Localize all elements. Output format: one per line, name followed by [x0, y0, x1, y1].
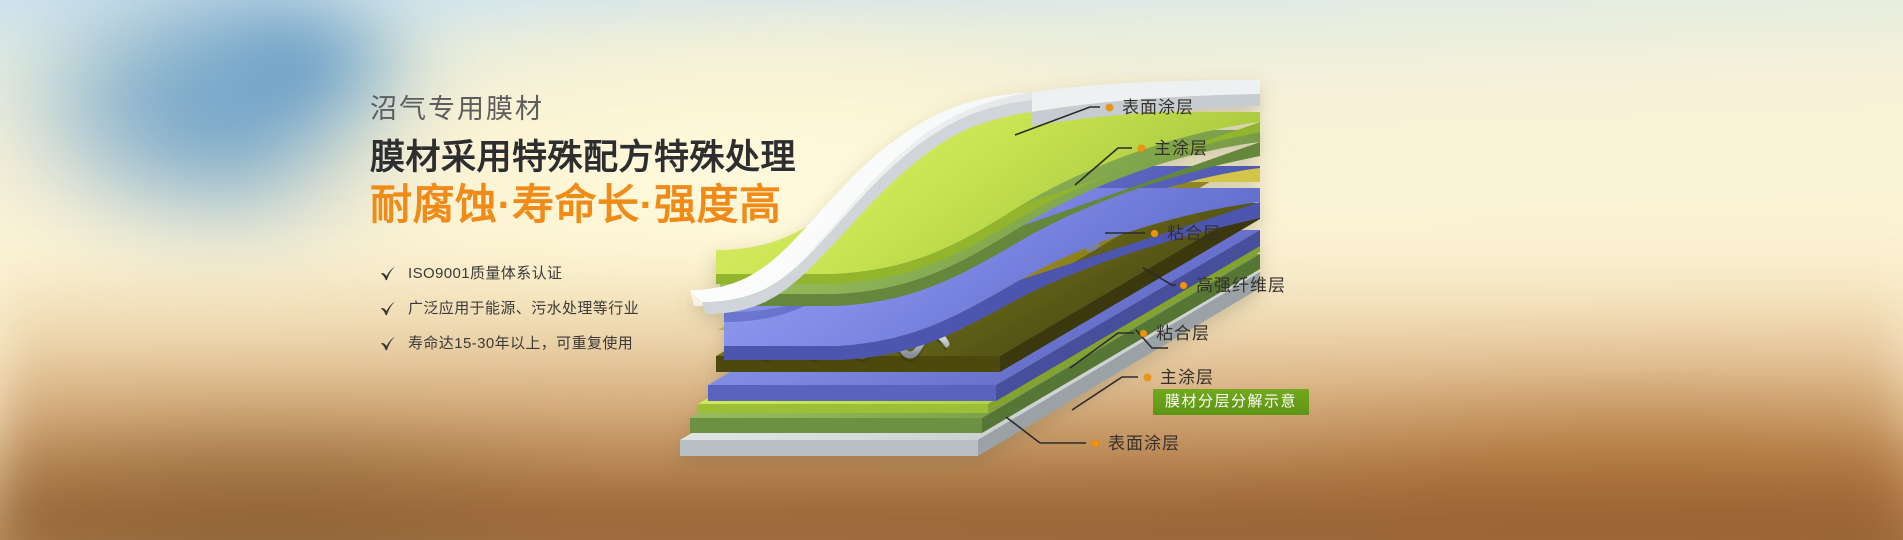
callout-label: 粘合层 [1167, 225, 1221, 242]
list-item-label: 广泛应用于能源、污水处理等行业 [408, 301, 639, 316]
callout-high-strength-fiber: 高强纤维层 [1180, 277, 1286, 294]
membrane-layer-diagram [660, 0, 1903, 540]
callout-label: 主涂层 [1154, 140, 1208, 157]
leader-dot-icon [1140, 330, 1147, 337]
callout-surface-coating-top: 表面涂层 [1106, 99, 1194, 116]
leader-dot-icon [1144, 374, 1151, 381]
leader-dot-icon [1092, 440, 1099, 447]
leader-dot-icon [1106, 104, 1113, 111]
callout-label: 高强纤维层 [1196, 277, 1286, 294]
check-icon [380, 266, 397, 281]
callout-main-coating-bottom: 主涂层 [1144, 369, 1214, 386]
membrane-layer-illustration [660, 0, 1903, 540]
callout-label: 表面涂层 [1108, 435, 1180, 452]
diagram-caption-tag: 膜材分层分解示意 [1153, 389, 1309, 415]
list-item-label: ISO9001质量体系认证 [408, 266, 562, 281]
check-icon [380, 336, 397, 351]
list-item-label: 寿命达15-30年以上，可重复使用 [408, 336, 633, 351]
callout-surface-coating-bottom: 表面涂层 [1092, 435, 1180, 452]
hero-banner: 沼气专用膜材 膜材采用特殊配方特殊处理 耐腐蚀·寿命长·强度高 ISO9001质… [0, 0, 1903, 540]
callout-main-coating-top: 主涂层 [1138, 140, 1208, 157]
callout-adhesive-bottom: 粘合层 [1140, 325, 1210, 342]
leader-dot-icon [1138, 145, 1145, 152]
leader-dot-icon [1151, 230, 1158, 237]
callout-label: 表面涂层 [1122, 99, 1194, 116]
check-icon [380, 301, 397, 316]
callout-label: 粘合层 [1156, 325, 1210, 342]
leader-dot-icon [1180, 282, 1187, 289]
callout-adhesive-top: 粘合层 [1151, 225, 1221, 242]
callout-label: 主涂层 [1160, 369, 1214, 386]
